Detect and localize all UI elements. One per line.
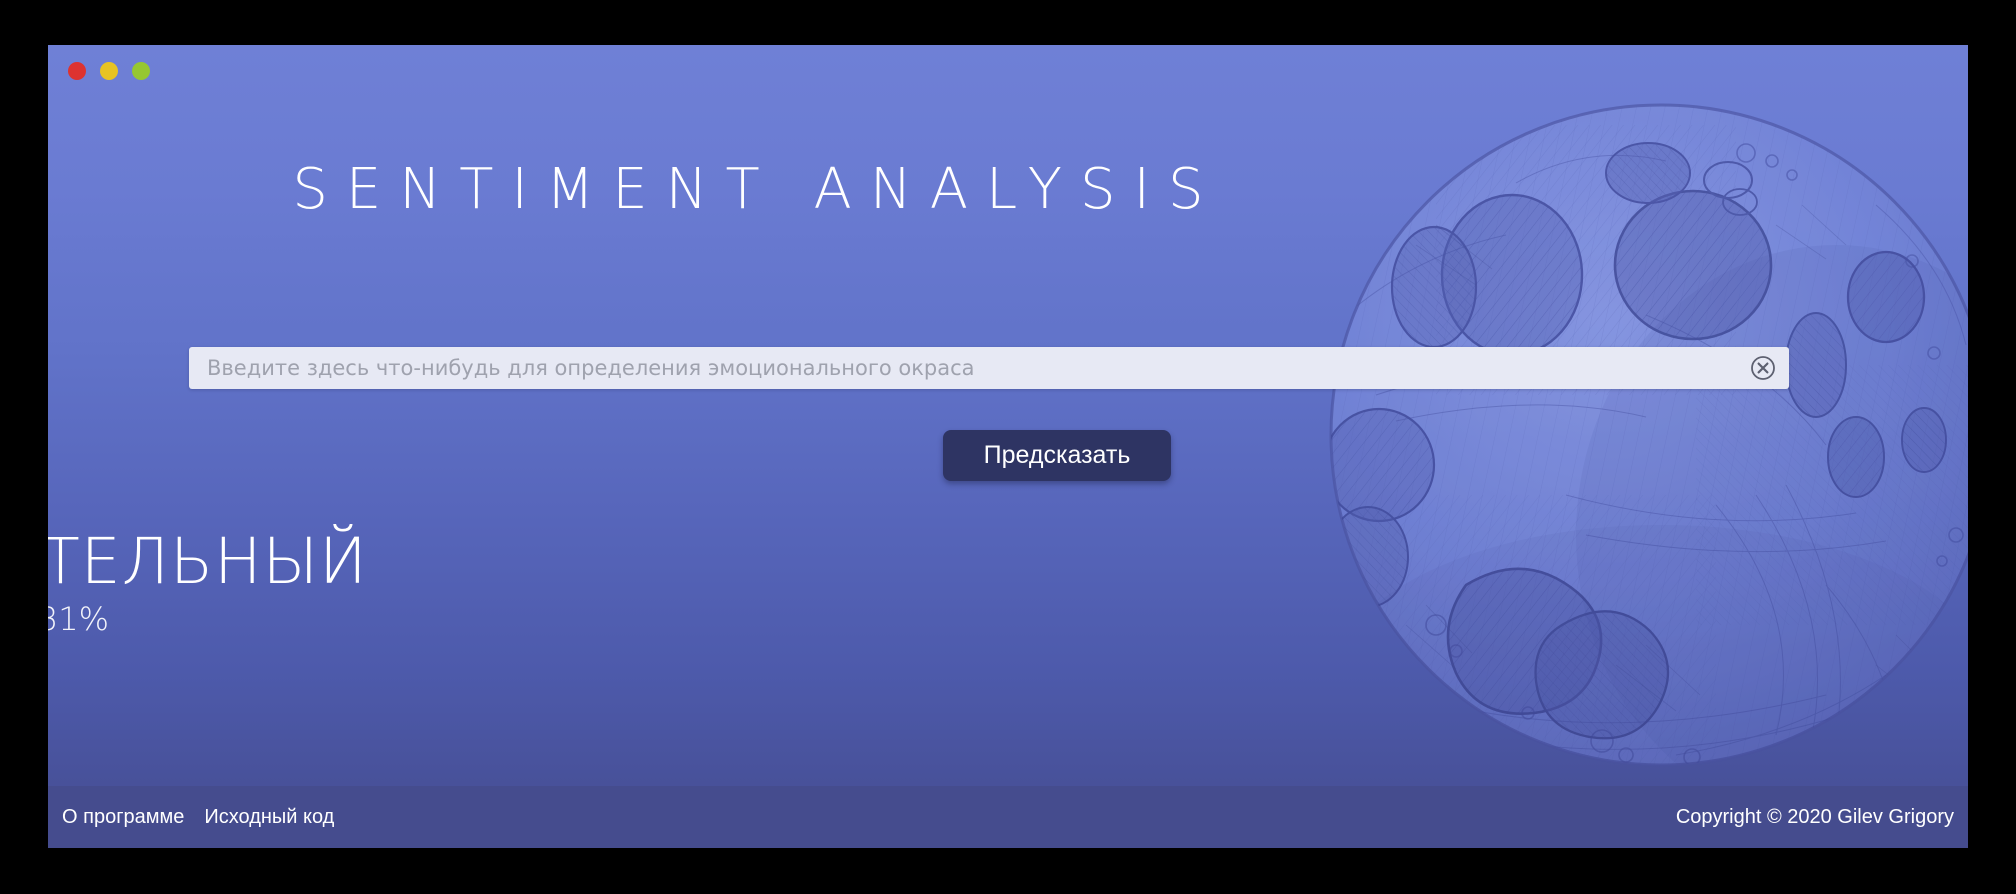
footer-links: О программе Исходный код <box>62 806 334 829</box>
sentiment-score: 89.31% <box>48 600 1056 638</box>
window-maximize-button[interactable] <box>132 62 150 80</box>
footer-bar: О программе Исходный код Copyright © 202… <box>48 786 1968 848</box>
window-titlebar <box>48 45 1968 97</box>
copyright-text: Copyright © 2020 Gilev Grigory <box>1676 806 1954 829</box>
screenshot-root: SENTIMENT ANALYSIS Предсказать ПОЛОЖИТЕЛ… <box>0 0 2016 894</box>
app-content: SENTIMENT ANALYSIS Предсказать ПОЛОЖИТЕЛ… <box>48 45 1968 848</box>
search-input[interactable] <box>189 347 1737 389</box>
source-code-link[interactable]: Исходный код <box>204 806 334 829</box>
page-title: SENTIMENT ANALYSIS <box>48 157 1448 222</box>
prediction-result: ПОЛОЖИТЕЛЬНЫЙ 89.31% <box>48 530 1968 638</box>
sentiment-label: ПОЛОЖИТЕЛЬНЫЙ <box>48 530 1056 594</box>
predict-button[interactable]: Предсказать <box>943 430 1171 481</box>
window-close-button[interactable] <box>68 62 86 80</box>
app-window: SENTIMENT ANALYSIS Предсказать ПОЛОЖИТЕЛ… <box>48 45 1968 848</box>
window-minimize-button[interactable] <box>100 62 118 80</box>
circle-x-icon[interactable] <box>1737 347 1789 389</box>
about-link[interactable]: О программе <box>62 806 184 829</box>
search-bar[interactable] <box>189 347 1789 389</box>
